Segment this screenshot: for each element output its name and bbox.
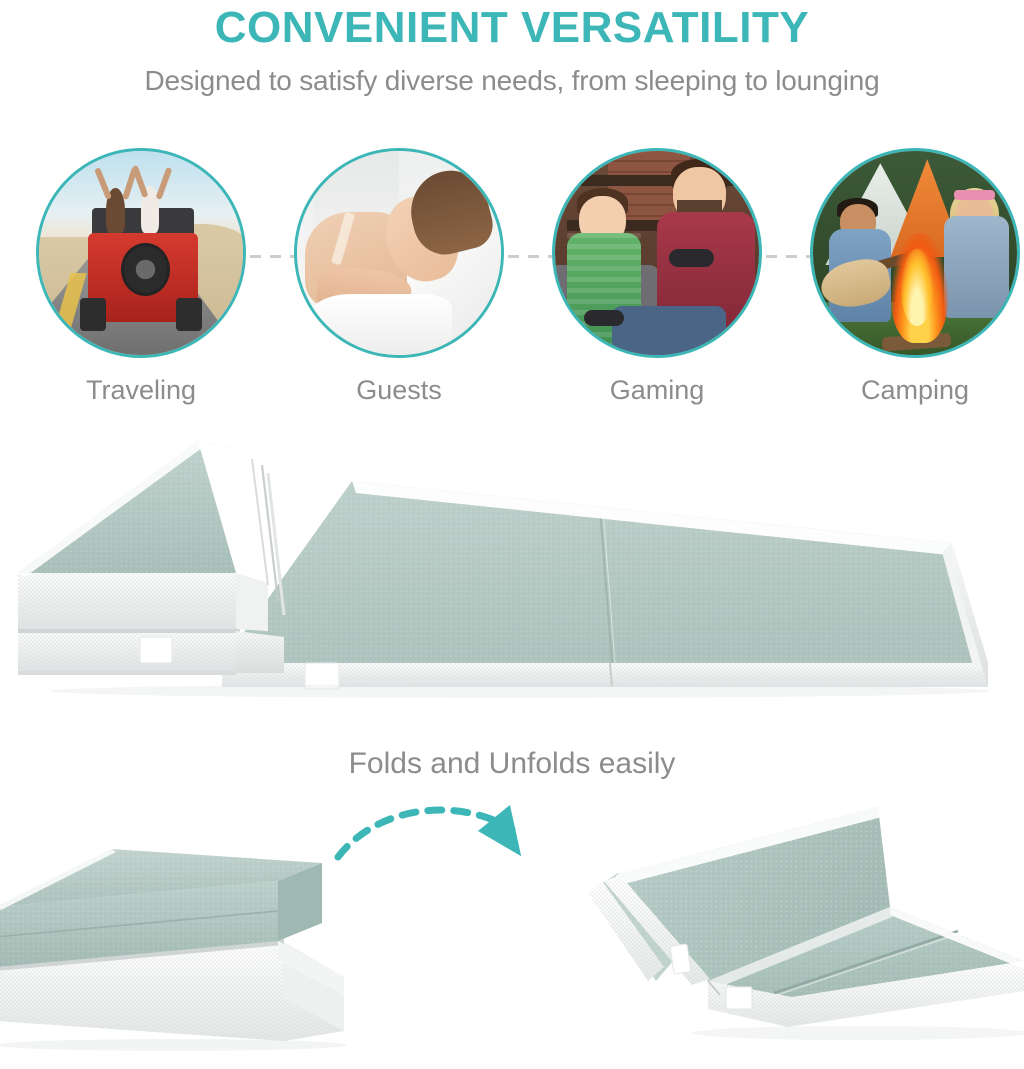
trifold-mattress-image — [560, 795, 1024, 1064]
page-title: CONVENIENT VERSATILITY — [0, 0, 1024, 54]
camping-photo — [810, 148, 1020, 358]
use-case-label: Gaming — [552, 374, 762, 406]
fold-arrow-icon — [330, 795, 560, 885]
use-case-label: Camping — [810, 374, 1020, 406]
folded-mattress-illustration — [0, 845, 352, 1064]
trifold-mattress-illustration — [560, 795, 1024, 1064]
traveling-photo — [36, 148, 246, 358]
use-case-traveling[interactable]: Traveling — [36, 148, 246, 406]
folds-caption: Folds and Unfolds easily — [0, 746, 1024, 782]
guests-photo — [294, 148, 504, 358]
curved-dashed-arrow-icon — [330, 795, 560, 885]
unfolded-mattress-illustration — [0, 425, 1024, 735]
use-case-label: Guests — [294, 374, 504, 406]
use-case-row: Traveling Guests — [0, 148, 1024, 418]
main-product-image — [0, 425, 1024, 735]
use-case-gaming[interactable]: Gaming — [552, 148, 762, 406]
use-case-label: Traveling — [36, 374, 246, 406]
use-case-camping[interactable]: Camping — [810, 148, 1020, 406]
page-subtitle: Designed to satisfy diverse needs, from … — [0, 54, 1024, 98]
use-case-guests[interactable]: Guests — [294, 148, 504, 406]
header: CONVENIENT VERSATILITY Designed to satis… — [0, 0, 1024, 98]
folded-mattress-image — [0, 845, 352, 1064]
gaming-photo — [552, 148, 762, 358]
